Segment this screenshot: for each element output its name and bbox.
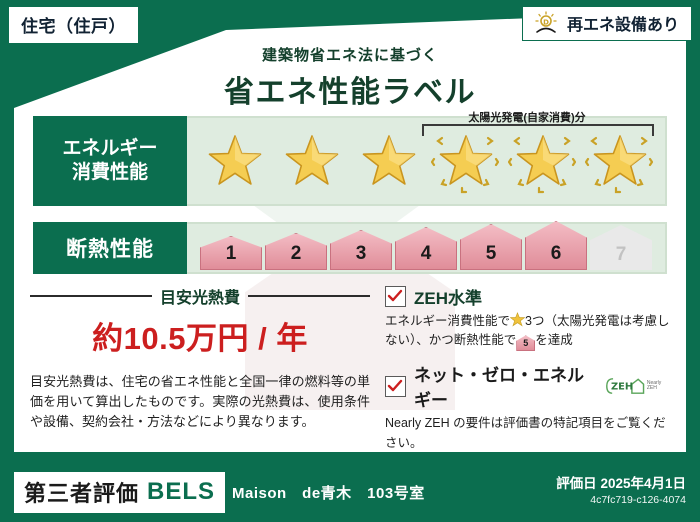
utility-cost-note: 目安光熱費は、住宅の省エネ性能と全国一律の燃料等の単価を用いて算出したものです。… [30,372,370,432]
net-zero-checkbox[interactable] [385,376,406,397]
star-sparkle-icon [431,128,499,194]
title-subtitle: 建築物省エネ法に基づく [0,44,700,65]
zeh-standard-checkbox[interactable] [385,286,406,307]
zeh-standard-body: エネルギー消費性能で3つ（太陽光発電は考慮しない）、かつ断熱性能で5を達成 [385,312,670,351]
svg-text:ZEH: ZEH [611,382,633,393]
bels-prefix-label: 第三者評価 [24,476,139,508]
rule-right [248,295,370,297]
page-title-block: 建築物省エネ法に基づく 省エネ性能ラベル [0,44,700,111]
insulation-house-filled: 2 [265,233,327,270]
rule-left [30,295,152,297]
insulation-scale: 1234567 [187,224,665,272]
insulation-house-filled: 6 [525,221,587,270]
star-icon [362,134,416,188]
insulation-body: 1234567 [187,222,667,274]
badge-housing-type-label: 住宅（住戸） [21,17,126,36]
net-zero-title: ネット・ゼロ・エネルギー [414,361,597,411]
badge-renewable-equipment: D 再エネ設備あり [522,6,692,41]
bels-energy-label: ★ 住宅（住戸） D 再エネ設備あり 建築物省エネ法に基づく 省エネ性 [0,0,700,522]
evaluation-id: 4c7fc719-c126-4074 [556,494,686,506]
evaluation-info: 評価日 2025年4月1日 4c7fc719-c126-4074 [556,472,686,506]
zeh-logo-sub: Nearly ZEH [647,381,670,392]
solar-bracket [422,124,654,136]
zeh-standard-star-count: 3つ [525,314,544,328]
star-icon [285,134,339,188]
energy-consumption-label: エネルギー 消費性能 [33,116,187,206]
energy-label-line1: エネルギー [62,137,157,161]
evaluation-date: 評価日 2025年4月1日 [556,472,686,492]
star-sparkle-icon [585,128,653,194]
solar-annotation-label: 太陽光発電(自家消費)分 [468,112,585,124]
utility-cost-value: 約10.5万円 / 年 [30,313,370,358]
svg-text:D: D [543,19,549,27]
check-zeh-standard: ZEH水準 エネルギー消費性能で3つ（太陽光発電は考慮しない）、かつ断熱性能で5… [385,284,670,351]
bels-badge: 第三者評価 BELS [14,472,225,513]
star-filled [200,128,268,194]
zeh-standard-body-part1: エネルギー消費性能で [385,314,510,328]
star-filled-solar [508,128,576,194]
zeh-logo-icon: ZEH Nearly ZEH [605,375,670,397]
zeh-standard-body-part3: を達成 [535,333,573,347]
mini-house-icon: 5 [516,335,535,351]
mini-star-icon [510,312,525,327]
badge-housing-type: 住宅（住戸） [8,6,139,44]
insulation-house-empty: 7 [590,225,652,270]
certification-checks: ZEH水準 エネルギー消費性能で3つ（太陽光発電は考慮しない）、かつ断熱性能で5… [385,284,670,463]
insulation-label-text: 断熱性能 [66,233,154,263]
energy-label-line2: 消費性能 [72,161,148,185]
badge-renewable-label: 再エネ設備あり [567,11,679,35]
insulation-label: 断熱性能 [33,222,187,274]
star-filled-solar [585,128,653,194]
star-filled [277,128,345,194]
property-name: Maison de青木 103号室 [232,482,425,503]
utility-cost-section: 目安光熱費 約10.5万円 / 年 目安光熱費は、住宅の省エネ性能と全国一律の燃… [30,284,370,432]
page-title: 省エネ性能ラベル [0,67,700,111]
star-filled-solar [431,128,499,194]
sun-icon: D [533,11,559,35]
insulation-house-filled: 3 [330,230,392,270]
insulation-house-filled: 4 [395,227,457,270]
net-zero-body: Nearly ZEH の要件は評価書の特記項目をご覧ください。 [385,414,670,453]
insulation-house-filled: 1 [200,236,262,270]
footer-bar: 第三者評価 BELS Maison de青木 103号室 評価日 2025年4月… [0,462,700,522]
zeh-standard-title: ZEH水準 [414,284,482,309]
insulation-house-filled: 5 [460,224,522,270]
check-zeh-standard-head: ZEH水準 [385,284,670,309]
check-net-zero-head: ネット・ゼロ・エネルギー ZEH Nearly ZEH [385,361,670,411]
check-net-zero-energy: ネット・ゼロ・エネルギー ZEH Nearly ZEH Nearly ZEH の… [385,361,670,453]
star-icon [208,134,262,188]
star-sparkle-icon [508,128,576,194]
star-filled [354,128,422,194]
utility-cost-heading-label: 目安光熱費 [160,284,240,308]
insulation-row: 断熱性能 1234567 [33,222,667,274]
bels-name-label: BELS [147,478,215,506]
utility-cost-heading: 目安光熱費 [30,284,370,308]
